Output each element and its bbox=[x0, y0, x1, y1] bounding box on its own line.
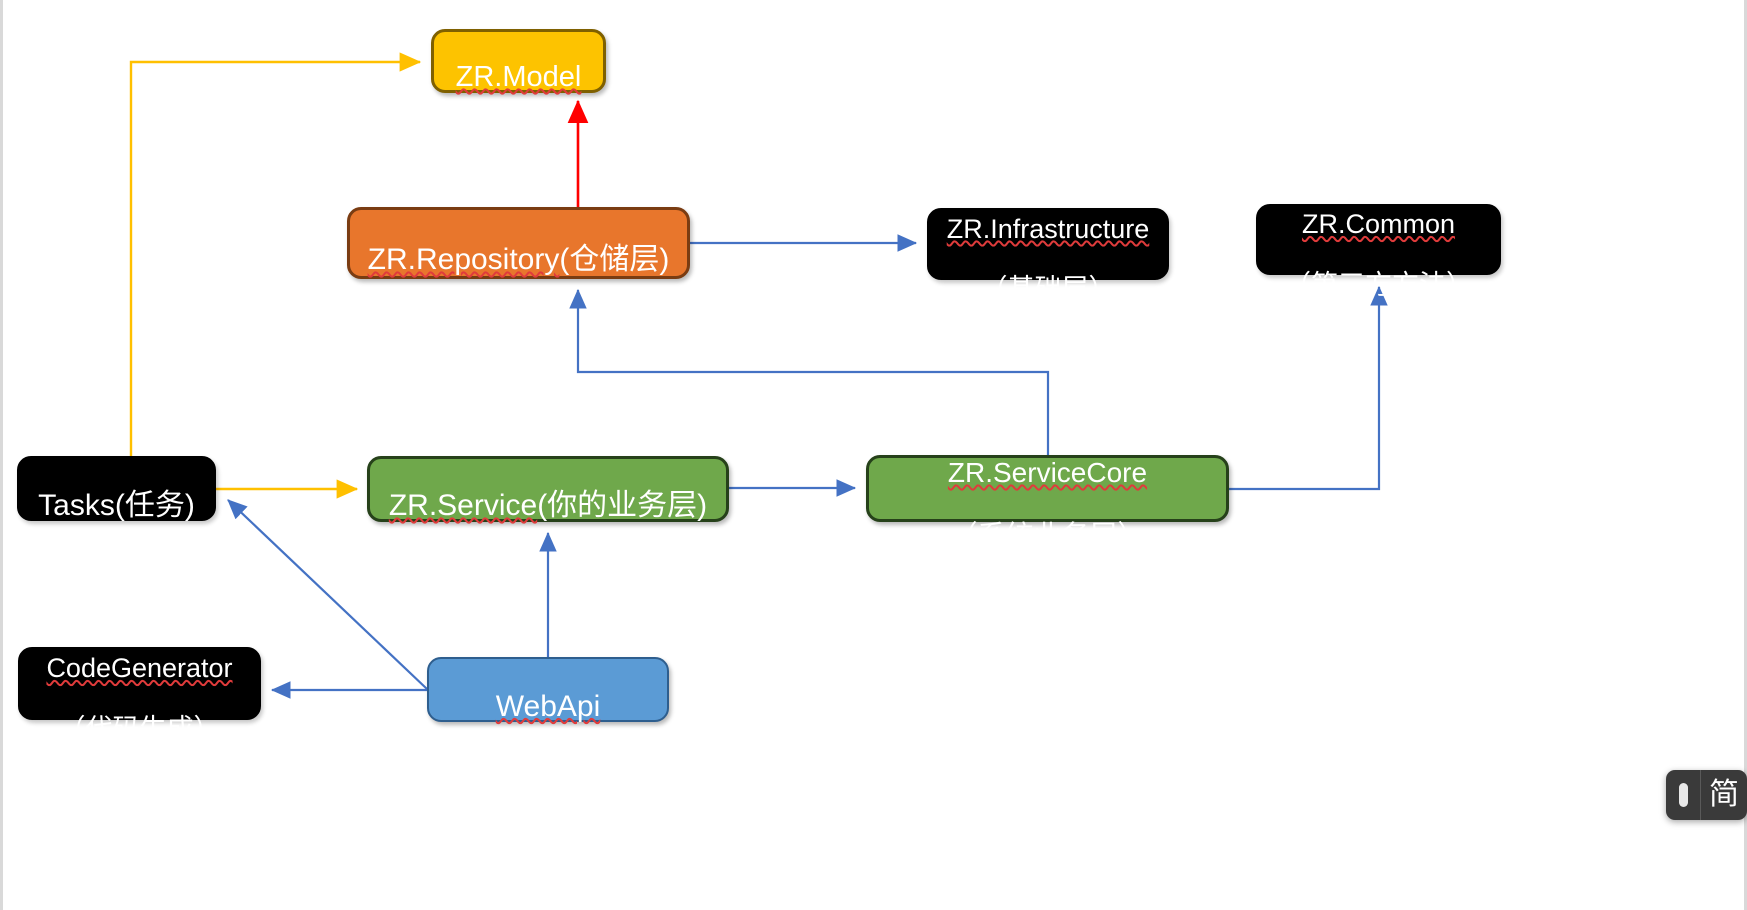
ime-indicator[interactable]: 简 bbox=[1666, 770, 1747, 820]
node-zr-common[interactable]: ZR.Common （第三方方法） bbox=[1256, 204, 1501, 275]
ime-bar-glyph bbox=[1679, 783, 1688, 807]
node-zr-common-label: ZR.Common （第三方方法） bbox=[1267, 179, 1490, 300]
page-edge-left bbox=[0, 0, 3, 910]
node-tasks-cn: (任务) bbox=[115, 489, 195, 522]
diagram-canvas: ZR.Model ZR.Repository(仓储层) ZR.Infrastru… bbox=[0, 0, 1747, 910]
connector-layer bbox=[0, 0, 1747, 910]
node-tasks-code: Tasks bbox=[38, 489, 115, 522]
node-tasks-label: Tasks(任务) bbox=[28, 455, 205, 522]
node-zr-model-code: ZR.Model bbox=[456, 61, 582, 93]
node-zr-service-label: ZR.Service(你的业务层) bbox=[380, 455, 716, 522]
node-zr-infrastructure[interactable]: ZR.Infrastructure （基础层） bbox=[927, 208, 1169, 280]
node-zr-service-cn: (你的业务层) bbox=[537, 489, 707, 522]
node-tasks[interactable]: Tasks(任务) bbox=[17, 456, 216, 521]
node-zr-repository-label: ZR.Repository(仓储层) bbox=[360, 209, 677, 276]
node-zr-service[interactable]: ZR.Service(你的业务层) bbox=[367, 456, 729, 522]
edge-servicecore-to-common bbox=[1229, 287, 1379, 489]
node-zr-model-label: ZR.Model bbox=[444, 29, 593, 94]
node-zr-repository-cn: (仓储层) bbox=[559, 243, 669, 276]
node-zr-infrastructure-label: ZR.Infrastructure （基础层） bbox=[938, 184, 1158, 305]
node-zr-servicecore-label: ZR.ServiceCore （系统业务层） bbox=[879, 426, 1216, 551]
ime-bar-icon[interactable] bbox=[1666, 770, 1701, 820]
node-zr-servicecore[interactable]: ZR.ServiceCore （系统业务层） bbox=[866, 455, 1229, 522]
node-zr-infrastructure-cn: （基础层） bbox=[981, 274, 1116, 304]
node-zr-servicecore-cn: （系统业务层） bbox=[949, 520, 1145, 551]
node-zr-servicecore-code: ZR.ServiceCore bbox=[948, 457, 1147, 488]
node-zr-model[interactable]: ZR.Model bbox=[431, 29, 606, 93]
node-zr-service-code: ZR.Service bbox=[389, 489, 537, 522]
node-zr-repository[interactable]: ZR.Repository(仓储层) bbox=[347, 207, 690, 279]
node-webapi-label: WebApi bbox=[439, 656, 657, 723]
ime-mode-label[interactable]: 简 bbox=[1701, 780, 1745, 810]
node-codegenerator-cn: （代码生成） bbox=[59, 714, 221, 744]
node-webapi[interactable]: WebApi bbox=[427, 657, 669, 722]
node-codegenerator[interactable]: CodeGenerator （代码生成） bbox=[18, 647, 261, 720]
node-zr-repository-code: ZR.Repository bbox=[368, 243, 560, 276]
node-zr-common-code: ZR.Common bbox=[1302, 209, 1455, 239]
node-codegenerator-label: CodeGenerator （代码生成） bbox=[29, 623, 250, 744]
node-webapi-code: WebApi bbox=[496, 690, 601, 723]
node-zr-infrastructure-code: ZR.Infrastructure bbox=[947, 214, 1150, 244]
node-codegenerator-code: CodeGenerator bbox=[46, 653, 232, 683]
node-zr-common-cn: （第三方方法） bbox=[1284, 270, 1473, 300]
